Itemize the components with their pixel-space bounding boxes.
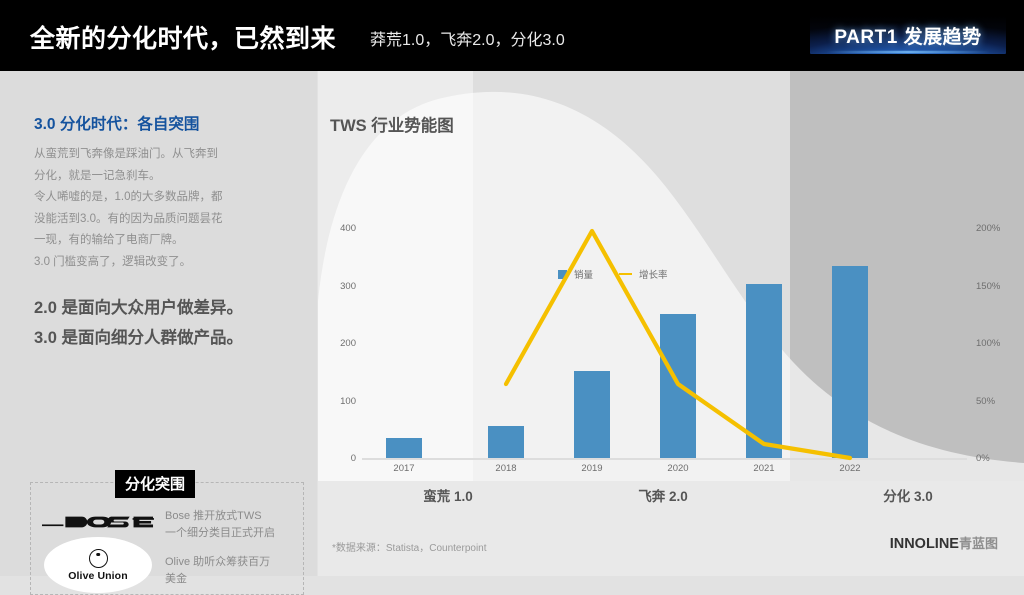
case-caption-line: 一个细分类目正式开启: [165, 525, 290, 542]
sidebar-paragraph-line: 一现，有的输给了电商厂牌。: [34, 230, 274, 252]
x-tick-2018: 2018: [474, 463, 538, 474]
x-tick-2021: 2021: [732, 463, 796, 474]
case-caption-line: Olive 助听众筹获百万: [165, 554, 290, 571]
case-caption-line: 美金: [165, 571, 290, 588]
olive-union-logo: Olive Union: [44, 537, 152, 593]
slide-header: 全新的分化时代，已然到来 莽荒1.0，飞奔2.0，分化3.0 PART1 发展趋…: [0, 0, 1024, 71]
stage-label-2: 飞奔 2.0: [518, 485, 808, 505]
page-subtitle: 莽荒1.0，飞奔2.0，分化3.0: [370, 26, 565, 50]
growth-rate-line: [318, 71, 1024, 481]
case-caption-olive: Olive 助听众筹获百万 美金: [165, 554, 290, 588]
stage-label-3: 分化 3.0: [798, 485, 1018, 505]
sidebar-statements: 2.0 是面向大众用户做差异。 3.0 是面向细分人群做产品。: [34, 293, 296, 353]
sidebar-statement: 2.0 是面向大众用户做差异。: [34, 293, 296, 323]
sidebar-paragraph-line: 分化，就是一记急刹车。: [34, 166, 274, 188]
sidebar-paragraph-line: 从蛮荒到飞奔像是踩油门。从飞奔到: [34, 144, 274, 166]
bose-logo: [42, 514, 154, 531]
case-caption-bose: Bose 推开放式TWS 一个细分类目正式开启: [165, 508, 290, 542]
sidebar-paragraph-line: 3.0 门槛变高了，逻辑改变了。: [34, 252, 274, 274]
x-tick-2020: 2020: [646, 463, 710, 474]
sidebar-heading: 3.0 分化时代：各自突围: [34, 112, 199, 134]
sidebar-body-text: 从蛮荒到飞奔像是踩油门。从飞奔到 分化，就是一记急刹车。 令人唏嘘的是，1.0的…: [34, 144, 274, 273]
sidebar-paragraph-line: 没能活到3.0。有的因为品质问题昙花: [34, 209, 274, 231]
slide-root: 全新的分化时代，已然到来 莽荒1.0，飞奔2.0，分化3.0 PART1 发展趋…: [0, 0, 1024, 576]
sidebar-panel: 3.0 分化时代：各自突围 从蛮荒到飞奔像是踩油门。从飞奔到 分化，就是一记急刹…: [0, 71, 317, 576]
x-tick-2022: 2022: [818, 463, 882, 474]
breakout-tag: 分化突围: [115, 470, 195, 498]
page-title: 全新的分化时代，已然到来: [30, 19, 336, 55]
sidebar-paragraph-line: 令人唏嘘的是，1.0的大多数品牌，都: [34, 187, 274, 209]
source-note: *数据来源：Statista，Counterpoint: [332, 539, 487, 554]
brand-logo: INNOLINE青蓝图: [890, 533, 998, 552]
x-tick-2017: 2017: [372, 463, 436, 474]
brand-name-cn: 青蓝图: [959, 536, 998, 551]
chart-panel: TWS 行业势能图 销量 增长率 400 300 200 100 0 200% …: [318, 71, 1024, 576]
sidebar-statement: 3.0 是面向细分人群做产品。: [34, 323, 296, 353]
olive-mark-icon: [89, 549, 108, 568]
chart-plot-area: 400 300 200 100 0 200% 150% 100% 50% 0%: [318, 71, 1024, 481]
section-badge-label: PART1 发展趋势: [834, 22, 981, 49]
section-badge: PART1 发展趋势: [810, 16, 1006, 54]
x-tick-2019: 2019: [560, 463, 624, 474]
case-caption-line: Bose 推开放式TWS: [165, 508, 290, 525]
brand-name-en: INNOLINE: [890, 536, 959, 552]
